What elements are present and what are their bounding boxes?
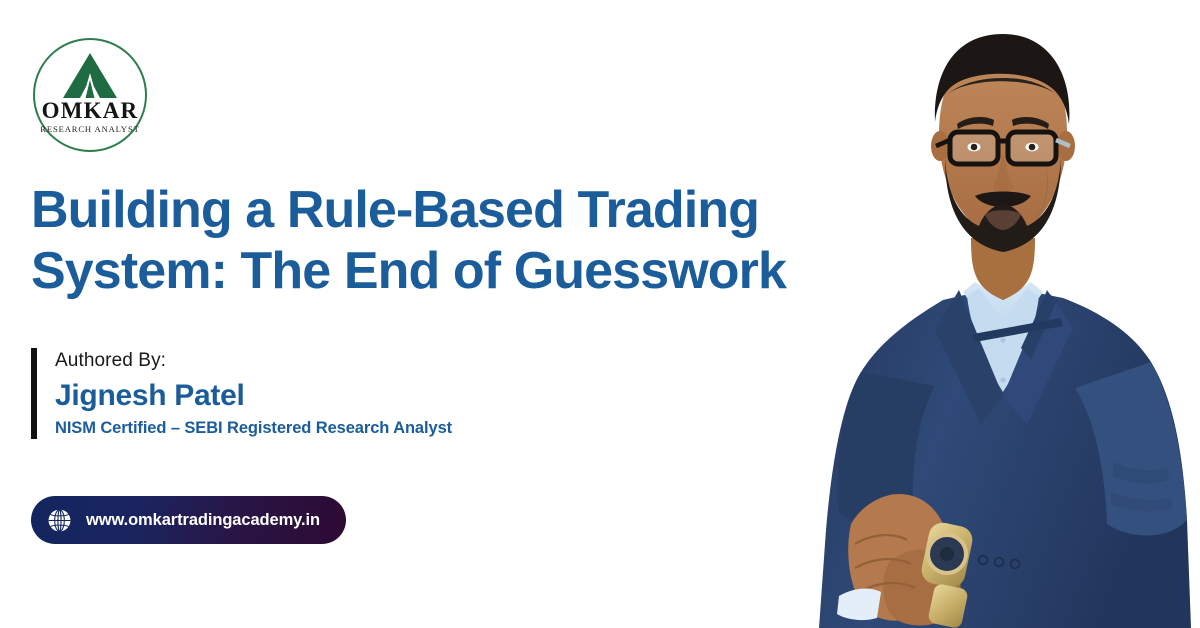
mountain-peak-icon: [59, 53, 121, 98]
authored-by-label: Authored By:: [55, 348, 452, 374]
website-url: www.omkartradingacademy.in: [86, 511, 320, 530]
face: [939, 46, 1067, 240]
beard: [945, 158, 1061, 252]
article-banner: OMKAR RESEARCH ANALYST Building a Rule-B…: [0, 0, 1200, 628]
suit-jacket: [819, 286, 1191, 628]
author-text-group: Authored By: Jignesh Patel NISM Certifie…: [55, 348, 452, 439]
page-title: Building a Rule-Based Trading System: Th…: [31, 180, 861, 302]
shirt-cuff: [837, 589, 881, 621]
author-block: Authored By: Jignesh Patel NISM Certifie…: [31, 348, 452, 439]
right-sleeve: [1075, 362, 1187, 536]
author-portrait-photo: [795, 0, 1200, 628]
logo-tagline: RESEARCH ANALYST: [40, 125, 139, 134]
author-credentials: NISM Certified – SEBI Registered Researc…: [55, 418, 452, 439]
title-line-1: Building a Rule-Based Trading: [31, 180, 861, 241]
logo-wordmark: OMKAR: [42, 99, 139, 122]
title-line-2: System: The End of Guesswork: [31, 241, 861, 302]
author-name: Jignesh Patel: [55, 376, 452, 415]
left-sleeve: [838, 372, 935, 524]
dress-shirt: [963, 282, 1043, 350]
brand-logo[interactable]: OMKAR RESEARCH ANALYST: [33, 38, 147, 152]
right-hand: [883, 550, 960, 626]
moustache: [975, 192, 1031, 208]
left-hand: [848, 494, 947, 621]
website-pill[interactable]: www.omkartradingacademy.in: [31, 496, 346, 544]
hair: [935, 34, 1070, 124]
author-accent-bar: [31, 348, 37, 439]
neck: [971, 238, 1035, 300]
globe-icon: [47, 508, 72, 533]
wristwatch: [919, 520, 975, 628]
eyeglasses: [936, 132, 1070, 164]
